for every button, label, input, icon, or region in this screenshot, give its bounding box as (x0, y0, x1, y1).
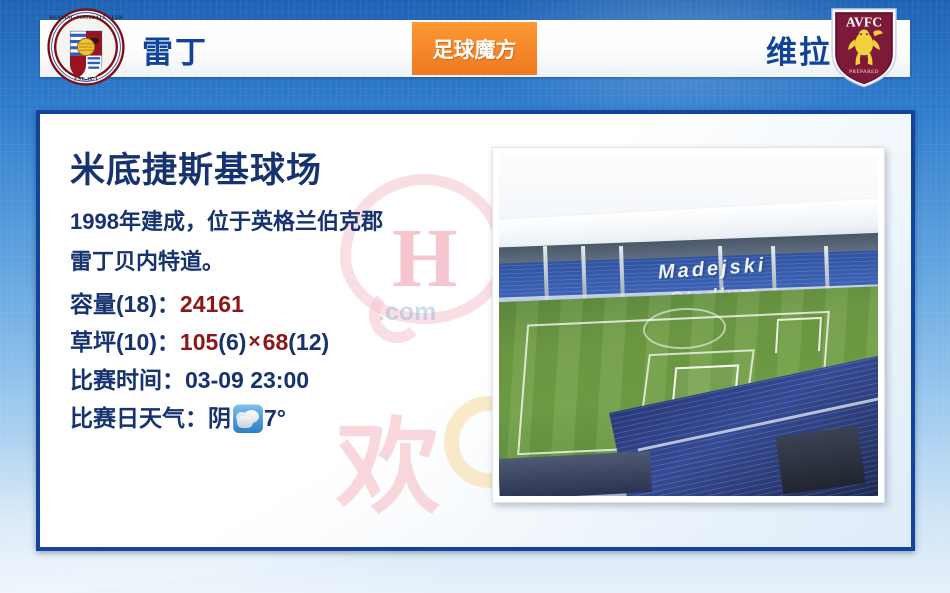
weather-row: 比赛日天气： 阴 7° (70, 399, 500, 437)
stadium-title: 米底捷斯基球场 (70, 142, 500, 193)
match-time-label: 比赛时间： (70, 361, 185, 399)
capacity-row: 容量(18)： 24161 (70, 285, 500, 323)
svg-text:READING FOOTBALL CLUB: READING FOOTBALL CLUB (49, 15, 123, 21)
match-time-row: 比赛时间： 03-09 23:00 (70, 361, 500, 399)
capacity-label: 容量(18)： (70, 285, 180, 323)
aston-villa-badge[interactable]: AVFC PREPARED (826, 6, 902, 88)
madejski-stadium-photo[interactable]: Madejski Stadium (492, 147, 885, 503)
away-team-name: 维拉 (766, 27, 832, 72)
match-time-value: 03-09 23:00 (185, 361, 309, 399)
reading-fc-badge[interactable]: READING FOOTBALL CLUB (47, 8, 125, 86)
cloudy-icon (233, 404, 263, 433)
home-team-name: 雷丁 (142, 27, 208, 72)
pitch-width: 68 (263, 323, 289, 361)
weather-condition: 阴 (208, 399, 231, 437)
capacity-value: 24161 (180, 285, 244, 323)
svg-text:EST. 1871: EST. 1871 (74, 77, 98, 83)
stadium-description-line-2: 雷丁贝内特道。 (70, 245, 500, 279)
pitch-length-rank: (6) (218, 323, 246, 361)
pitch-label: 草坪(10)： (70, 323, 180, 361)
stadium-details: 米底捷斯基球场 1998年建成，位于英格兰伯克郡 雷丁贝内特道。 容量(18)：… (70, 142, 500, 437)
weather-temperature: 7° (264, 399, 286, 437)
stadium-info-panel: H .com 欢 米底捷斯基球场 1998年建成，位于英格兰伯克郡 雷丁贝内特道… (36, 110, 915, 551)
pitch-width-rank: (12) (288, 323, 329, 361)
pitch-row: 草坪(10)： 105 (6) × 68 (12) (70, 323, 500, 361)
pitch-separator: × (246, 323, 262, 361)
stadium-description-line-1: 1998年建成，位于英格兰伯克郡 (70, 205, 500, 239)
stadium-photo-image: Madejski Stadium (499, 154, 878, 496)
match-header: READING FOOTBALL CLUB (0, 0, 950, 92)
pitch-length: 105 (180, 323, 218, 361)
prepared-text: PREPARED (849, 69, 879, 75)
weather-label: 比赛日天气： (70, 399, 208, 437)
brand-logo-text: 足球魔方 (433, 34, 517, 64)
brand-logo[interactable]: 足球魔方 (412, 22, 537, 75)
avfc-text: AVFC (846, 15, 882, 30)
